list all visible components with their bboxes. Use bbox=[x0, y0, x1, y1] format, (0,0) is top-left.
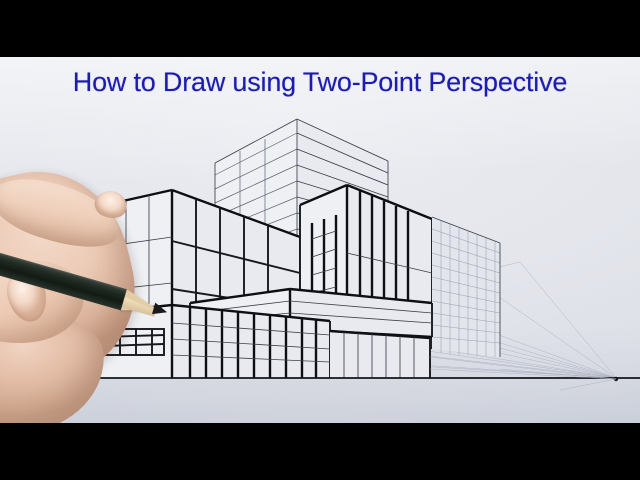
right-grid-panel bbox=[432, 217, 500, 357]
drawing-paper: .g { stroke:#9aa0b0; stroke-width:.55; f… bbox=[0, 57, 640, 423]
letterbox-bar-bottom bbox=[0, 423, 640, 480]
right-step-block bbox=[330, 331, 430, 378]
perspective-drawing: .g { stroke:#9aa0b0; stroke-width:.55; f… bbox=[0, 57, 640, 423]
letterbox-bar-top bbox=[0, 0, 640, 57]
video-frame: .g { stroke:#9aa0b0; stroke-width:.55; f… bbox=[0, 0, 640, 480]
